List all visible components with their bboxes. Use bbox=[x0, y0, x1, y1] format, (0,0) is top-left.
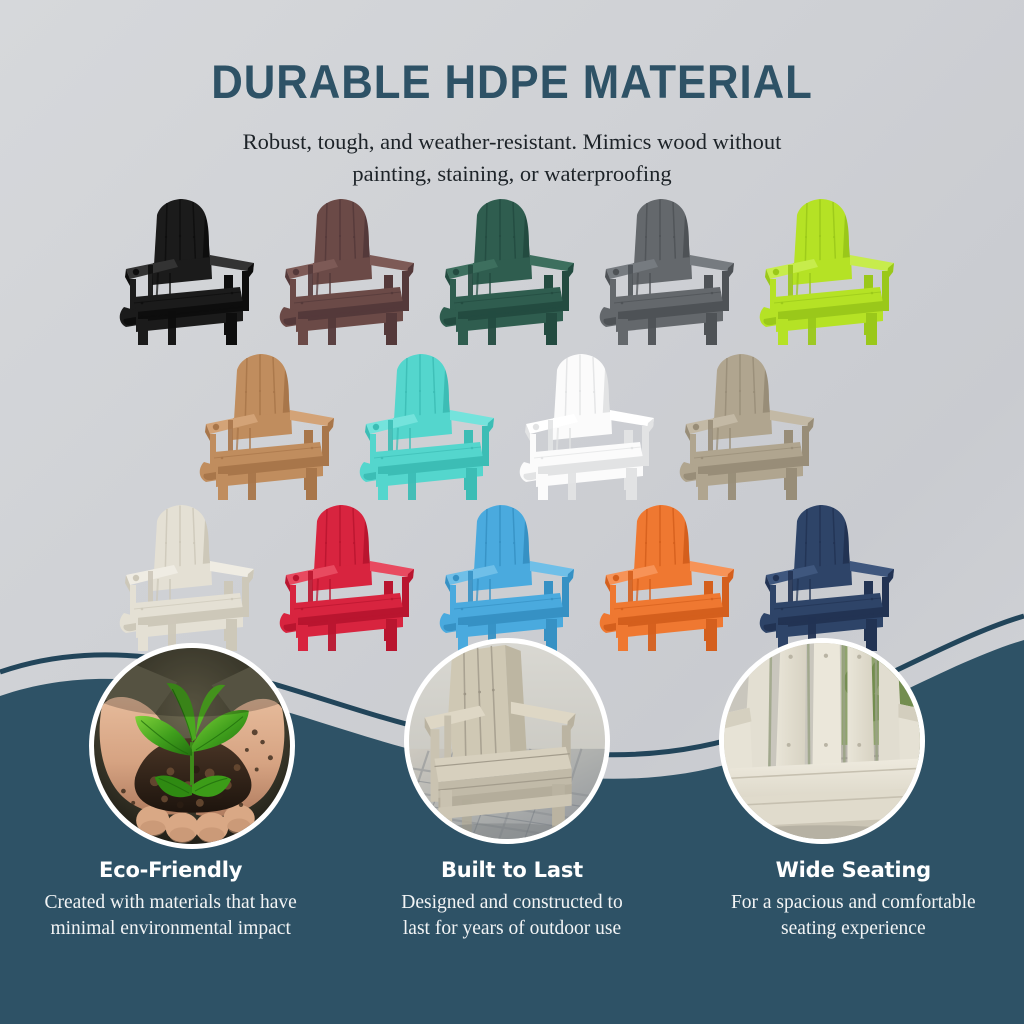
photo-inner bbox=[94, 648, 290, 844]
page-title: DURABLE HDPE MATERIAL bbox=[36, 58, 988, 105]
photo-inner bbox=[724, 643, 920, 839]
chair-swatch-lime-green[interactable] bbox=[752, 193, 912, 345]
chair-swatch-brown[interactable] bbox=[272, 193, 432, 345]
adirondack-chair-white bbox=[512, 348, 672, 500]
header-block: DURABLE HDPE MATERIAL Robust, tough, and… bbox=[0, 0, 1024, 190]
chair-swatch-gray[interactable] bbox=[592, 193, 752, 345]
feature-1-heading: Eco-Friendly bbox=[16, 858, 325, 882]
feature-2-heading: Built to Last bbox=[357, 858, 666, 882]
adirondack-chair-driftwood bbox=[672, 348, 832, 500]
feature-2: Built to Last Designed and constructed t… bbox=[341, 844, 682, 1024]
feature-2-text-line-1: Designed and constructed to bbox=[357, 890, 666, 916]
feature-3-heading: Wide Seating bbox=[699, 858, 1008, 882]
photo-inner bbox=[409, 643, 605, 839]
feature-1-text: Created with materials that have minimal… bbox=[16, 890, 325, 941]
feature-photo-eco-friendly bbox=[89, 643, 295, 849]
feature-3: Wide Seating For a spacious and comforta… bbox=[683, 844, 1024, 1024]
subtitle-line-1: Robust, tough, and weather-resistant. Mi… bbox=[0, 126, 1024, 158]
feature-1: Eco-Friendly Created with materials that… bbox=[0, 844, 341, 1024]
chair-swatch-teak[interactable] bbox=[192, 348, 352, 500]
infographic-page: DURABLE HDPE MATERIAL Robust, tough, and… bbox=[0, 0, 1024, 1024]
adirondack-chair-turquoise bbox=[352, 348, 512, 500]
chair-row-2 bbox=[0, 348, 1024, 500]
chair-swatch-black[interactable] bbox=[112, 193, 272, 345]
chair-row-1 bbox=[0, 193, 1024, 345]
feature-photo-wide-seating bbox=[719, 638, 925, 844]
adirondack-chair-teak bbox=[192, 348, 352, 500]
adirondack-chair-lime green bbox=[752, 193, 912, 345]
page-subtitle: Robust, tough, and weather-resistant. Mi… bbox=[0, 126, 1024, 190]
feature-3-text: For a spacious and comfortable seating e… bbox=[699, 890, 1008, 941]
adirondack-chair-brown bbox=[272, 193, 432, 345]
feature-3-text-line-2: seating experience bbox=[699, 916, 1008, 942]
feature-photo-built-to-last bbox=[404, 638, 610, 844]
chair-color-grid bbox=[0, 193, 1024, 663]
chair-swatch-white[interactable] bbox=[512, 348, 672, 500]
beige-chair-on-patio-image bbox=[409, 643, 605, 839]
chair-swatch-driftwood[interactable] bbox=[672, 348, 832, 500]
adirondack-chair-gray bbox=[592, 193, 752, 345]
feature-1-text-line-2: minimal environmental impact bbox=[16, 916, 325, 942]
chair-swatch-turquoise[interactable] bbox=[352, 348, 512, 500]
seedling-in-hands-image bbox=[94, 648, 290, 844]
wide-seat-closeup-image bbox=[724, 643, 920, 839]
feature-3-text-line-1: For a spacious and comfortable bbox=[699, 890, 1008, 916]
subtitle-line-2: painting, staining, or waterproofing bbox=[0, 158, 1024, 190]
feature-1-text-line-1: Created with materials that have bbox=[16, 890, 325, 916]
feature-2-text: Designed and constructed to last for yea… bbox=[357, 890, 666, 941]
feature-captions: Eco-Friendly Created with materials that… bbox=[0, 844, 1024, 1024]
chair-swatch-dark-green[interactable] bbox=[432, 193, 592, 345]
adirondack-chair-black bbox=[112, 193, 272, 345]
adirondack-chair-dark green bbox=[432, 193, 592, 345]
feature-2-text-line-2: last for years of outdoor use bbox=[357, 916, 666, 942]
